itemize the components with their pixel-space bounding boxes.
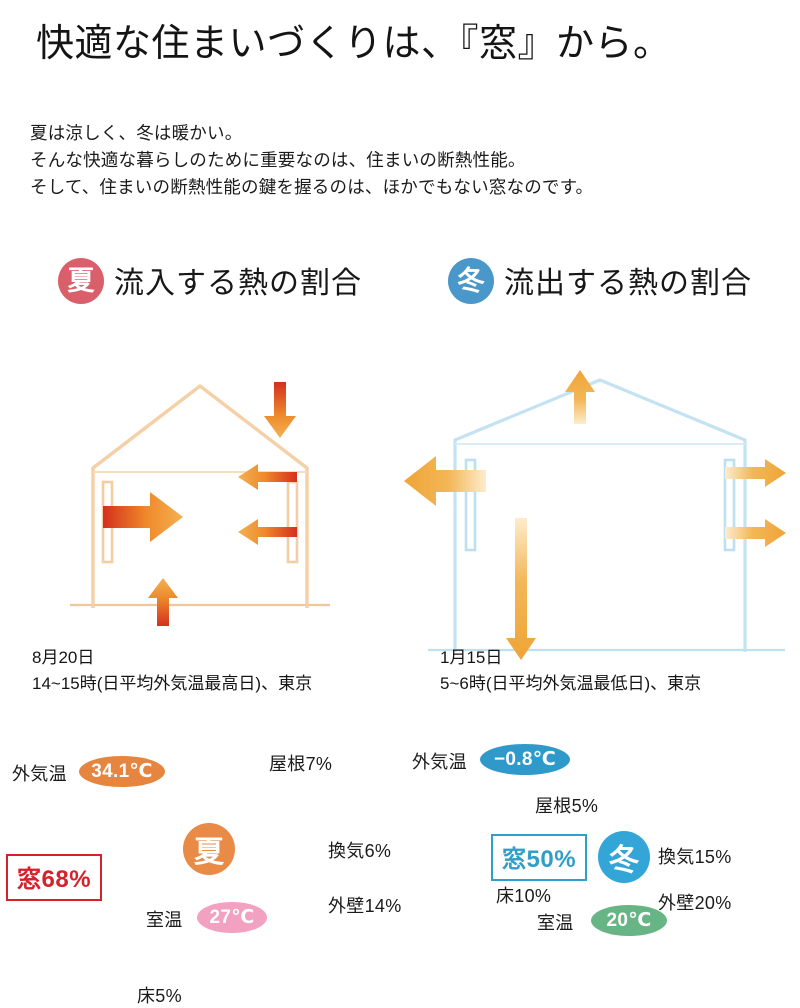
summer-house-season-mark: 夏: [183, 823, 235, 875]
section-header-summer: 夏 流入する熱の割合: [58, 258, 362, 304]
winter-roof-label: 屋根5%: [535, 792, 598, 818]
winter-caption-line-1: 1月15日: [440, 645, 701, 671]
summer-caption: 8月20日 14~15時(日平均外気温最高日)、東京: [32, 645, 312, 697]
winter-floor-arrow: [506, 518, 536, 660]
winter-room-temp-value: 20℃: [591, 905, 667, 936]
winter-outside-temp-value: −0.8℃: [480, 744, 570, 775]
winter-house-graphic: [400, 360, 800, 780]
summer-caption-line-1: 8月20日: [32, 645, 312, 671]
summer-outside-temp-label: 外気温: [12, 760, 67, 786]
section-header-winter: 冬 流出する熱の割合: [448, 258, 752, 304]
lead-paragraph: 夏は涼しく、冬は暖かい。 そんな快適な暮らしのために重要なのは、住まいの断熱性能…: [30, 120, 593, 201]
summer-room-temp-value: 27℃: [197, 902, 267, 933]
winter-heading-label: 流出する熱の割合: [504, 267, 752, 300]
summer-window-callout: 窓68%: [6, 854, 102, 901]
summer-house-graphic: [0, 360, 400, 780]
winter-house-season-mark: 冬: [598, 831, 650, 883]
winter-diagram: 外気温 −0.8℃ 屋根5% 窓50% 冬 換気15% 外壁20% 床10% 室…: [400, 360, 800, 780]
summer-heading-text: 流入する熱の割合: [114, 258, 362, 304]
summer-diagram: 外気温 34.1℃ 屋根7% 換気6% 外壁14% 床5% 窓68% 夏 室温 …: [0, 360, 400, 780]
summer-floor-arrow: [148, 578, 178, 626]
winter-caption: 1月15日 5~6時(日平均外気温最低日)、東京: [440, 645, 701, 697]
summer-vent-label: 換気6%: [328, 837, 391, 863]
summer-window-arrow: [103, 492, 183, 542]
winter-wall-label: 外壁20%: [658, 889, 732, 915]
winter-caption-line-2: 5~6時(日平均外気温最低日)、東京: [440, 671, 701, 697]
summer-wall-label: 外壁14%: [328, 892, 402, 918]
winter-season-badge: 冬: [448, 258, 494, 304]
summer-roof-arrow: [264, 382, 296, 438]
winter-heading-text: 流出する熱の割合: [504, 258, 752, 304]
winter-roof-arrow: [565, 370, 595, 424]
lead-line-3: そして、住まいの断熱性能の鍵を握るのは、ほかでもない窓なのです。: [30, 174, 593, 201]
summer-heading-label: 流入する熱の割合: [114, 267, 362, 300]
summer-room-temp-label: 室温: [146, 906, 183, 932]
summer-caption-line-2: 14~15時(日平均外気温最高日)、東京: [32, 671, 312, 697]
summer-season-badge: 夏: [58, 258, 104, 304]
winter-room-temp-label: 室温: [537, 909, 574, 935]
winter-window-callout: 窓50%: [491, 834, 587, 881]
page-title: 快適な住まいづくりは、『窓』から。: [36, 22, 672, 67]
winter-vent-label: 換気15%: [658, 843, 732, 869]
summer-outside-temp-value: 34.1℃: [79, 756, 165, 787]
summer-roof-label: 屋根7%: [269, 750, 332, 776]
lead-line-1: 夏は涼しく、冬は暖かい。: [30, 120, 593, 147]
winter-outside-temp-label: 外気温: [412, 748, 467, 774]
winter-floor-label: 床10%: [496, 882, 551, 908]
summer-floor-label: 床5%: [137, 982, 182, 1008]
lead-line-2: そんな快適な暮らしのために重要なのは、住まいの断熱性能。: [30, 147, 593, 174]
